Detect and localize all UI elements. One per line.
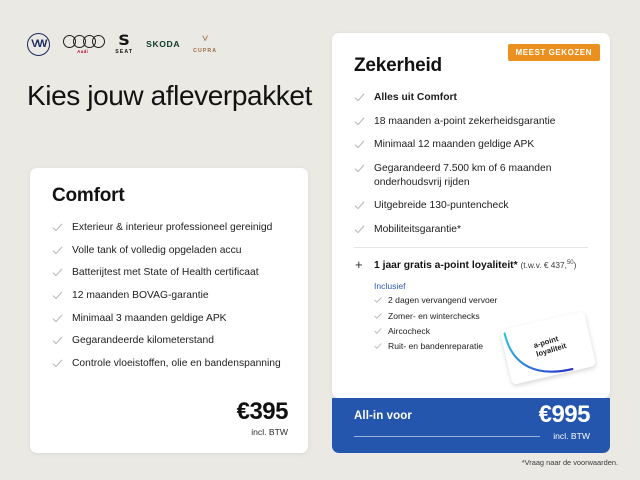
- list-item: Uitgebreide 130-puntencheck: [354, 199, 590, 213]
- zekerheid-vat-note: incl. BTW: [553, 431, 590, 441]
- list-item-label: Uitgebreide 130-puntencheck: [374, 200, 509, 211]
- list-item: Alles uit Comfort: [354, 91, 590, 105]
- list-item-label: 2 dagen vervangend vervoer: [388, 295, 497, 305]
- section-divider: [354, 247, 588, 248]
- cupra-mark: ⱽ: [202, 34, 208, 47]
- list-item: Exterieur & interieur professioneel gere…: [52, 221, 286, 235]
- audi-logo-icon: Audi: [63, 35, 102, 54]
- check-icon: [354, 200, 365, 211]
- loyalty-label: 1 jaar gratis a-point loyaliteit*: [374, 260, 518, 271]
- check-icon: [52, 335, 63, 346]
- check-icon: [52, 245, 63, 256]
- seat-mark: S: [118, 34, 130, 48]
- check-icon: [374, 327, 382, 335]
- page-title: Kies jouw afleverpakket: [27, 78, 317, 113]
- check-icon: [52, 222, 63, 233]
- skoda-wordmark: SKODA: [146, 39, 180, 49]
- check-icon: [374, 296, 382, 304]
- status-badge: MEEST GEKOZEN: [508, 44, 601, 61]
- list-item: Mobiliteitsgarantie*: [354, 223, 590, 237]
- comfort-price: €395: [237, 400, 288, 424]
- plus-icon: +: [355, 258, 363, 271]
- comfort-title: Comfort: [52, 185, 308, 207]
- comfort-feature-list: Exterieur & interieur professioneel gere…: [52, 221, 286, 371]
- list-item-label: Gegarandeerd 7.500 km of 6 maanden onder…: [374, 163, 551, 188]
- list-item: 2 dagen vervangend vervoer: [374, 295, 590, 305]
- check-icon: [354, 116, 365, 127]
- zekerheid-price: €995: [539, 403, 590, 427]
- list-item-label: Zomer- en winterchecks: [388, 311, 480, 321]
- list-item: Batterijtest met State of Health certifi…: [52, 266, 286, 280]
- comfort-price-block: €395 incl. BTW: [237, 400, 288, 437]
- list-item-label: Batterijtest met State of Health certifi…: [72, 267, 259, 278]
- seat-wordmark: SEAT: [115, 49, 133, 55]
- audi-rings-mark: [63, 35, 102, 48]
- list-item-label: Minimaal 12 maanden geldige APK: [374, 139, 534, 150]
- vw-mark: VW: [27, 33, 50, 56]
- list-item: Gegarandeerd 7.500 km of 6 maanden onder…: [354, 162, 590, 189]
- list-item-label: Aircocheck: [388, 326, 430, 336]
- allin-label: All-in voor: [354, 410, 412, 422]
- list-item: 12 maanden BOVAG-garantie: [52, 289, 286, 303]
- check-icon: [374, 342, 382, 350]
- list-item-label: Alles uit Comfort: [374, 92, 457, 103]
- skoda-logo-icon: SKODA: [146, 39, 180, 49]
- cupra-wordmark: CUPRA: [193, 48, 217, 54]
- check-icon: [52, 290, 63, 301]
- list-item-label: Volle tank of volledig opgeladen accu: [72, 245, 241, 256]
- list-item-label: Gegarandeerde kilometerstand: [72, 335, 214, 346]
- seat-logo-icon: S SEAT: [115, 34, 133, 55]
- audi-wordmark: Audi: [77, 49, 88, 54]
- cupra-logo-icon: ⱽ CUPRA: [193, 34, 217, 54]
- list-item-label: 18 maanden a-point zekerheidsgarantie: [374, 116, 555, 127]
- list-item: Minimaal 3 maanden geldige APK: [52, 312, 286, 326]
- package-card-comfort[interactable]: Comfort Exterieur & interieur profession…: [30, 168, 308, 453]
- list-item: Controle vloeistoffen, olie en bandenspa…: [52, 357, 286, 371]
- list-item-label: Mobiliteitsgarantie*: [374, 224, 461, 235]
- comfort-vat-note: incl. BTW: [237, 427, 288, 437]
- zekerheid-feature-list: Alles uit Comfort 18 maanden a-point zek…: [354, 91, 590, 237]
- check-icon: [52, 313, 63, 324]
- list-item: Volle tank of volledig opgeladen accu: [52, 244, 286, 258]
- list-item-label: Minimaal 3 maanden geldige APK: [72, 313, 227, 324]
- list-item: 18 maanden a-point zekerheidsgarantie: [354, 115, 590, 129]
- list-item-label: Exterieur & interieur professioneel gere…: [72, 222, 272, 233]
- check-icon: [374, 312, 382, 320]
- footnote: *Vraag naar de voorwaarden.: [522, 458, 618, 467]
- check-icon: [52, 267, 63, 278]
- check-icon: [354, 163, 365, 174]
- check-icon: [354, 139, 365, 150]
- check-icon: [354, 224, 365, 235]
- list-item-label: Controle vloeistoffen, olie en bandenspa…: [72, 358, 281, 369]
- inclusief-title: Inclusief: [374, 281, 590, 291]
- check-icon: [52, 358, 63, 369]
- volkswagen-logo-icon: VW: [27, 33, 50, 56]
- list-item-label: Ruit- en bandenreparatie: [388, 341, 483, 351]
- list-item-label: 12 maanden BOVAG-garantie: [72, 290, 209, 301]
- loyalty-row: + 1 jaar gratis a-point loyaliteit* (t.w…: [354, 259, 590, 272]
- allin-underline: [354, 436, 540, 437]
- list-item: Gegarandeerde kilometerstand: [52, 334, 286, 348]
- loyalty-value-note: (t.w.v. € 437,50): [521, 260, 577, 270]
- allin-price-bar: All-in voor €995 incl. BTW: [332, 398, 610, 453]
- list-item: Minimaal 12 maanden geldige APK: [354, 138, 590, 152]
- brand-logo-strip: VW Audi S SEAT SKODA ⱽ CUPRA: [27, 31, 217, 57]
- promo-page: VW Audi S SEAT SKODA ⱽ CUPRA Kies jouw a…: [0, 0, 640, 480]
- check-icon: [354, 92, 365, 103]
